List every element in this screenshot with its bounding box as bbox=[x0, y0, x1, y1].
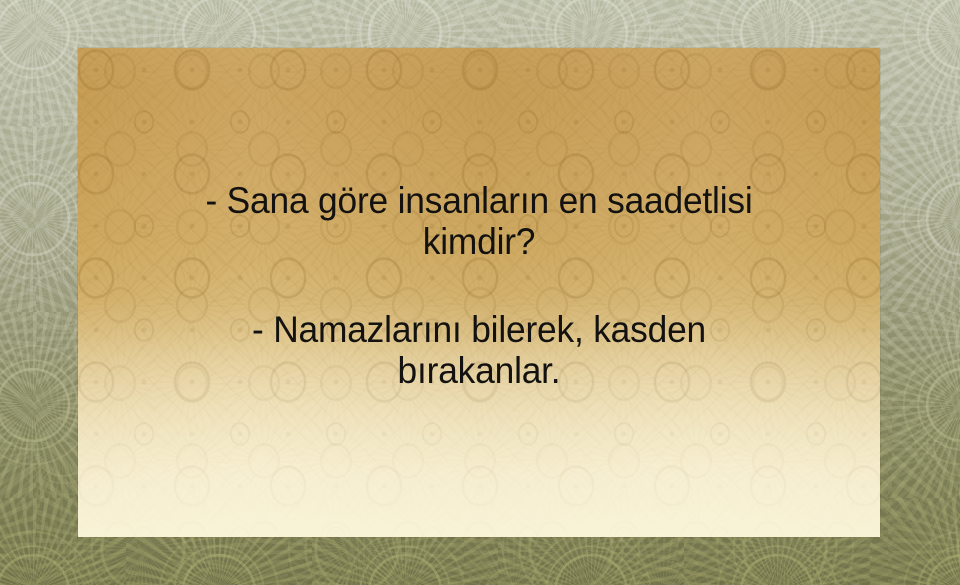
quote-text-block: - Sana göre insanların en saadetlisi kim… bbox=[96, 180, 862, 392]
quote-answer-line-1: - Namazlarını bilerek, kasden bbox=[115, 309, 843, 350]
inner-quote-panel: - Sana göre insanların en saadetlisi kim… bbox=[78, 48, 880, 537]
quote-answer: - Namazlarını bilerek, kasden bırakanlar… bbox=[115, 309, 843, 392]
quote-card-stage: - Sana göre insanların en saadetlisi kim… bbox=[0, 0, 960, 585]
quote-paragraph-gap bbox=[115, 263, 843, 309]
quote-question: - Sana göre insanların en saadetlisi kim… bbox=[115, 180, 843, 263]
quote-answer-line-2: bırakanlar. bbox=[115, 350, 843, 391]
quote-question-line-2: kimdir? bbox=[115, 221, 843, 262]
quote-question-line-1: - Sana göre insanların en saadetlisi bbox=[115, 180, 843, 221]
